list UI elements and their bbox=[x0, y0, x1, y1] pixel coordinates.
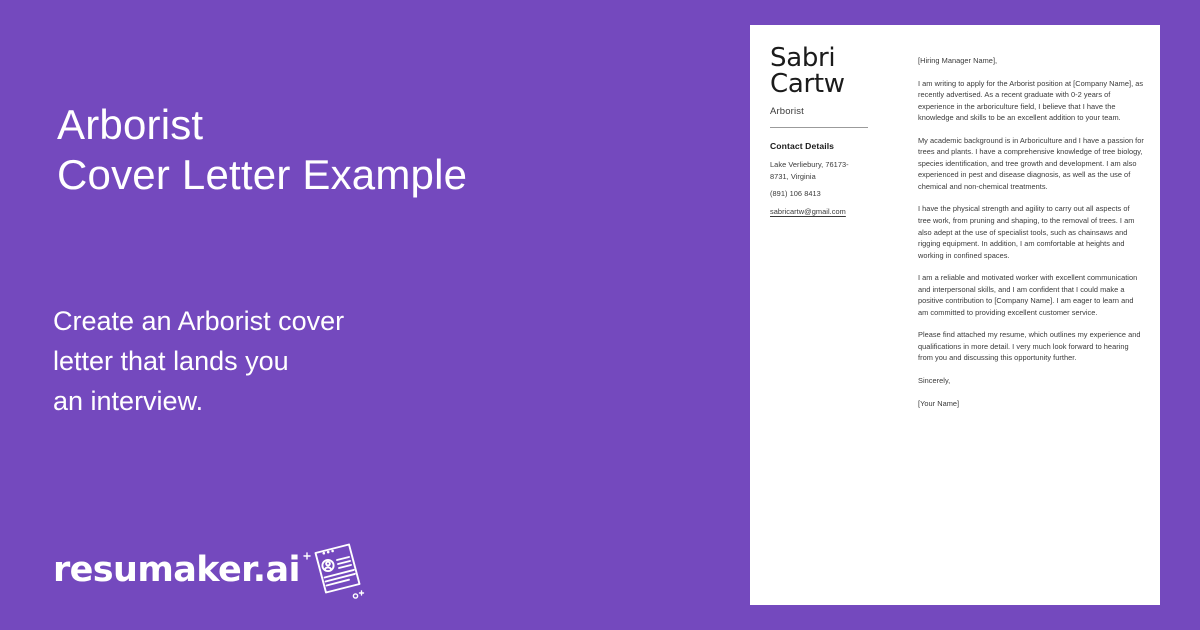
contact-address: Lake Verliebury, 76173- 8731, Virginia bbox=[770, 159, 890, 182]
contact-details-heading: Contact Details bbox=[770, 141, 890, 151]
letterhead-sidebar: Sabri Cartw Arborist Contact Details Lak… bbox=[770, 45, 890, 223]
cover-letter-preview-card[interactable]: Sabri Cartw Arborist Contact Details Lak… bbox=[750, 25, 1160, 605]
letter-paragraph-5: Please find attached my resume, which ou… bbox=[918, 329, 1144, 364]
letter-closing: Sincerely, bbox=[918, 375, 1144, 387]
letterhead-divider bbox=[770, 127, 868, 128]
promo-panel: Arborist Cover Letter Example Create an … bbox=[0, 0, 740, 630]
contact-address-line-1: Lake Verliebury, 76173- bbox=[770, 160, 849, 169]
letter-signature: [Your Name] bbox=[918, 398, 1144, 410]
letter-salutation: [Hiring Manager Name], bbox=[918, 55, 1144, 67]
brand-wordmark: resumaker.ai bbox=[53, 553, 300, 588]
letter-body: [Hiring Manager Name], I am writing to a… bbox=[918, 55, 1144, 420]
applicant-name: Sabri Cartw bbox=[770, 45, 890, 97]
page-title-line-2: Cover Letter Example bbox=[57, 150, 697, 200]
letter-paragraph-1: I am writing to apply for the Arborist p… bbox=[918, 78, 1144, 124]
page-subtitle: Create an Arborist cover letter that lan… bbox=[53, 301, 673, 421]
letter-paragraph-2: My academic background is in Arboricultu… bbox=[918, 135, 1144, 193]
page-subtitle-line-3: an interview. bbox=[53, 381, 673, 421]
promo-canvas: Arborist Cover Letter Example Create an … bbox=[0, 0, 1200, 630]
applicant-last-name: Cartw bbox=[770, 71, 890, 97]
contact-email[interactable]: sabricartw@gmail.com bbox=[770, 206, 890, 218]
applicant-first-name: Sabri bbox=[770, 45, 890, 71]
contact-phone: (891) 106 8413 bbox=[770, 188, 890, 200]
letter-paragraph-4: I am a reliable and motivated worker wit… bbox=[918, 272, 1144, 318]
document-profile-icon bbox=[302, 539, 368, 601]
page-subtitle-line-2: letter that lands you bbox=[53, 341, 673, 381]
letter-paragraph-3: I have the physical strength and agility… bbox=[918, 203, 1144, 261]
applicant-job-title: Arborist bbox=[770, 106, 890, 117]
contact-details-list: Lake Verliebury, 76173- 8731, Virginia (… bbox=[770, 159, 890, 217]
page-subtitle-line-1: Create an Arborist cover bbox=[53, 301, 673, 341]
contact-address-line-2: 8731, Virginia bbox=[770, 172, 816, 181]
page-title-line-1: Arborist bbox=[57, 100, 697, 150]
brand-logo[interactable]: resumaker.ai bbox=[53, 540, 368, 600]
page-title: Arborist Cover Letter Example bbox=[57, 100, 697, 200]
